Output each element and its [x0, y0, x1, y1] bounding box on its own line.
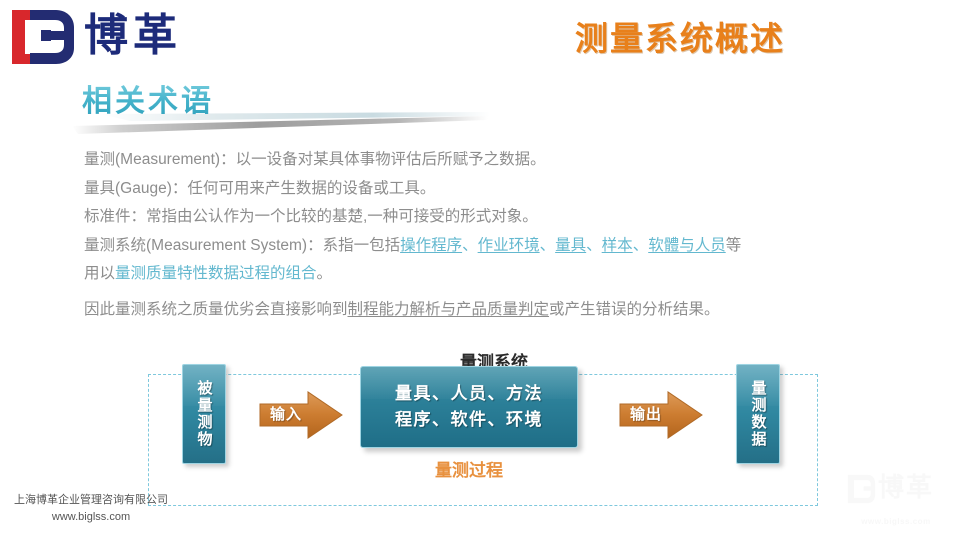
- brand-name: 博革: [84, 8, 182, 64]
- body-seg-accent: 量测质量特性数据过程的组合: [115, 265, 317, 282]
- body-line-3: 标准件：常指由公认作为一个比较的基楚,一种可接受的形式对象。: [84, 203, 914, 232]
- footer: 上海博革企业管理咨询有限公司 www.biglss.com: [14, 492, 168, 526]
- input-arrow-label: 输入: [262, 403, 310, 424]
- body-seg: 量具(Gauge)：任何可用来产生数据的设备或工具。: [84, 180, 435, 197]
- body-line-2: 量具(Gauge)：任何可用来产生数据的设备或工具。: [84, 175, 914, 204]
- body-seg-accent: 量具: [555, 237, 586, 254]
- diagram-box-measurement-process: 量具、人员、方法 程序、软件、环境: [360, 366, 578, 448]
- body-line-4: 量测系统(Measurement System)：系指一包括操作程序、作业环境、…: [84, 232, 914, 261]
- watermark-brand: 博革: [878, 472, 934, 502]
- body-seg-accent: 作业环境: [478, 237, 540, 254]
- input-arrow: 输入: [258, 390, 344, 440]
- watermark-url: www.biglss.com: [844, 517, 948, 526]
- body-seg: 量测系统(Measurement System)：系指一包括: [84, 237, 400, 254]
- process-caption: 量测过程: [360, 456, 578, 481]
- body-seg-accent: 、: [540, 237, 556, 254]
- diagram-box-measured-object: 被量测物: [182, 364, 226, 464]
- body-seg-accent: 操作程序: [400, 237, 462, 254]
- body-seg: 量测(Measurement)：以一设备对某具体事物评估后所赋予之数据。: [84, 151, 546, 168]
- body-seg: 用以: [84, 265, 115, 282]
- slide-canvas: 博革 测量系统概述 相关术语 量测(Measurement)：以: [0, 0, 960, 540]
- footer-company: 上海博革企业管理咨询有限公司: [14, 492, 168, 509]
- body-seg-accent: 、: [633, 237, 649, 254]
- bg-monogram-icon: [8, 8, 78, 66]
- body-seg-accent: 、: [586, 237, 602, 254]
- process-line-1: 量具、人员、方法: [395, 381, 543, 407]
- measurement-system-diagram: 量测系统 被量测物 输入 量具、人员、方法 程序、: [148, 348, 820, 508]
- closing-seg-underlined: 制程能力解析与产品质量判定: [348, 301, 550, 318]
- section-title: 相关术语: [82, 76, 214, 120]
- body-line-5: 用以量测质量特性数据过程的组合。: [84, 260, 914, 289]
- body-seg: 等: [726, 237, 742, 254]
- watermark-logo: 博革 www.biglss.com: [844, 466, 948, 528]
- page-title: 测量系统概述: [430, 12, 930, 60]
- body-seg: 标准件：常指由公认作为一个比较的基楚,一种可接受的形式对象。: [84, 208, 538, 225]
- output-arrow: 输出: [618, 390, 704, 440]
- body-line-1: 量测(Measurement)：以一设备对某具体事物评估后所赋予之数据。: [84, 146, 914, 175]
- footer-url: www.biglss.com: [14, 509, 168, 526]
- body-seg-accent: 样本: [602, 237, 633, 254]
- diagram-box-measured-object-label: 被量测物: [183, 365, 225, 463]
- body-seg-accent: 软體与人员: [648, 237, 726, 254]
- body-text: 量测(Measurement)：以一设备对某具体事物评估后所赋予之数据。 量具(…: [84, 146, 914, 289]
- body-closing-line: 因此量测系统之质量优劣会直接影响到制程能力解析与产品质量判定或产生错误的分析结果…: [84, 296, 924, 324]
- watermark-monogram-icon: [846, 474, 876, 504]
- output-arrow-label: 输出: [622, 403, 670, 424]
- body-seg-accent: 、: [462, 237, 478, 254]
- diagram-box-measurement-data: 量测数据: [736, 364, 780, 464]
- closing-seg: 或产生错误的分析结果。: [549, 301, 720, 318]
- process-line-2: 程序、软件、环境: [395, 407, 543, 433]
- body-seg: 。: [317, 265, 333, 282]
- closing-seg: 因此量测系统之质量优劣会直接影响到: [84, 301, 348, 318]
- diagram-box-measurement-data-label: 量测数据: [737, 365, 779, 463]
- brand-logo: 博革: [8, 6, 338, 68]
